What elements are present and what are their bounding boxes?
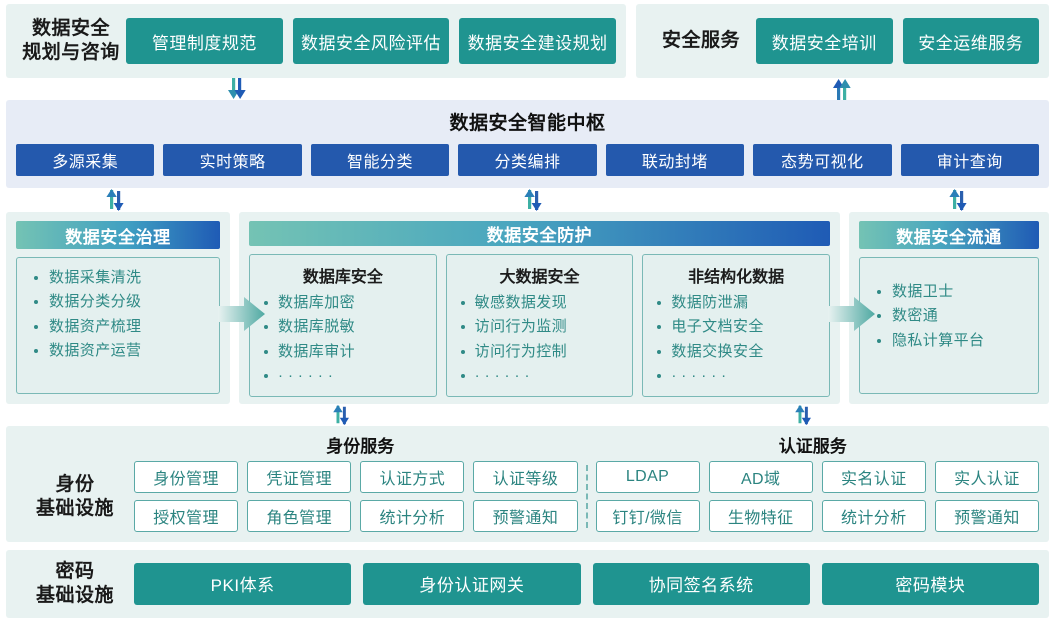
protection-0-item-2: 数据库审计	[256, 340, 430, 364]
diagram-root: 数据安全 规划与咨询 管理制度规范 数据安全风险评估 数据安全建设规划 安全服务…	[0, 0, 1055, 613]
protection-boxes: 数据库安全 数据库加密 数据库脱敏 数据库审计 · · · · · · 大数据安…	[249, 254, 830, 397]
governance-item-1: 数据分类分级	[23, 290, 213, 314]
crypto-item-1[interactable]: 身份认证网关	[363, 563, 580, 605]
auth-service-title: 认证服务	[587, 432, 1040, 457]
planning-label: 数据安全 规划与咨询	[16, 17, 126, 65]
arrow-bidi-circulation-icon	[941, 188, 977, 212]
crypto-items: PKI体系 身份认证网关 协同签名系统 密码模块	[134, 563, 1039, 605]
protection-1-item-3: · · · · · ·	[453, 364, 627, 388]
chevron-right-governance-icon	[216, 292, 268, 336]
arrow-band-top	[6, 78, 1049, 100]
crypto-item-3[interactable]: 密码模块	[822, 563, 1039, 605]
auth-cell-6[interactable]: 统计分析	[822, 500, 926, 532]
auth-cell-5[interactable]: 生物特征	[709, 500, 813, 532]
row-planning-services: 数据安全 规划与咨询 管理制度规范 数据安全风险评估 数据安全建设规划 安全服务…	[6, 4, 1049, 78]
protection-list-1: 敏感数据发现 访问行为监测 访问行为控制 · · · · · ·	[453, 291, 627, 388]
circulation-header: 数据安全流通	[859, 221, 1039, 249]
protection-box-title-1: 大数据安全	[453, 263, 627, 287]
planning-item-0[interactable]: 管理制度规范	[126, 18, 283, 64]
hub-item-5[interactable]: 态势可视化	[753, 144, 891, 176]
protection-box-title-2: 非结构化数据	[649, 263, 823, 287]
hub-panel: 数据安全智能中枢 多源采集 实时策略 智能分类 分类编排 联动封堵 态势可视化 …	[6, 100, 1049, 188]
protection-list-2: 数据防泄漏 电子文档安全 数据交换安全 · · · · · ·	[649, 291, 823, 388]
governance-panel: 数据安全治理 数据采集清洗 数据分类分级 数据资产梳理 数据资产运营	[6, 212, 230, 404]
identity-cell-1[interactable]: 凭证管理	[247, 461, 351, 493]
protection-header: 数据安全防护	[249, 221, 830, 246]
protection-box-2: 非结构化数据 数据防泄漏 电子文档安全 数据交换安全 · · · · · ·	[642, 254, 830, 397]
arrow-band-mid-ident	[6, 404, 1049, 426]
governance-list: 数据采集清洗 数据分类分级 数据资产梳理 数据资产运营	[23, 266, 213, 363]
planning-item-1[interactable]: 数据安全风险评估	[293, 18, 450, 64]
arrow-bidi-governance-icon	[98, 188, 134, 212]
identity-cell-7[interactable]: 预警通知	[473, 500, 577, 532]
protection-2-item-0: 数据防泄漏	[649, 291, 823, 315]
planning-item-2[interactable]: 数据安全建设规划	[459, 18, 616, 64]
circulation-item-2: 隐私计算平台	[866, 329, 1032, 353]
service-item-1[interactable]: 安全运维服务	[903, 18, 1040, 64]
chevron-right-protection-icon	[826, 292, 878, 336]
governance-header: 数据安全治理	[16, 221, 220, 249]
circulation-item-1: 数密通	[866, 304, 1032, 328]
identity-cell-2[interactable]: 认证方式	[360, 461, 464, 493]
governance-item-3: 数据资产运营	[23, 339, 213, 363]
hub-item-6[interactable]: 审计查询	[901, 144, 1039, 176]
identity-section-titles: 身份服务 认证服务	[16, 432, 1039, 457]
crypto-infrastructure-label: 密码 基础设施	[16, 560, 134, 608]
governance-item-0: 数据采集清洗	[23, 266, 213, 290]
auth-cell-7[interactable]: 预警通知	[935, 500, 1039, 532]
identity-service-title: 身份服务	[134, 432, 587, 457]
auth-cell-4[interactable]: 钉钉/微信	[596, 500, 700, 532]
identity-infrastructure-panel: 身份服务 认证服务 身份 基础设施 身份管理 凭证管理 认证方式 认证等级 授权…	[6, 426, 1049, 542]
governance-item-2: 数据资产梳理	[23, 315, 213, 339]
arrow-bidi-identity-icon	[324, 404, 360, 426]
hub-item-4[interactable]: 联动封堵	[606, 144, 744, 176]
service-item-0[interactable]: 数据安全培训	[756, 18, 893, 64]
hub-items: 多源采集 实时策略 智能分类 分类编排 联动封堵 态势可视化 审计查询	[16, 144, 1039, 176]
identity-divider	[578, 461, 596, 532]
protection-1-item-2: 访问行为控制	[453, 340, 627, 364]
arrow-up-services-icon	[824, 78, 862, 100]
governance-box: 数据采集清洗 数据分类分级 数据资产梳理 数据资产运营	[16, 257, 220, 394]
identity-service-grid: 身份管理 凭证管理 认证方式 认证等级 授权管理 角色管理 统计分析 预警通知	[134, 461, 578, 532]
auth-cell-1[interactable]: AD域	[709, 461, 813, 493]
planning-panel: 数据安全 规划与咨询 管理制度规范 数据安全风险评估 数据安全建设规划	[6, 4, 626, 78]
hub-title: 数据安全智能中枢	[16, 108, 1039, 135]
protection-box-0: 数据库安全 数据库加密 数据库脱敏 数据库审计 · · · · · ·	[249, 254, 437, 397]
circulation-list: 数据卫士 数密通 隐私计算平台	[866, 266, 1032, 353]
identity-infrastructure-label: 身份 基础设施	[16, 473, 134, 521]
identity-cell-6[interactable]: 统计分析	[360, 500, 464, 532]
identity-cell-4[interactable]: 授权管理	[134, 500, 238, 532]
protection-box-1: 大数据安全 敏感数据发现 访问行为监测 访问行为控制 · · · · · ·	[446, 254, 634, 397]
planning-items: 管理制度规范 数据安全风险评估 数据安全建设规划	[126, 18, 616, 64]
arrow-band-hub-mid	[6, 188, 1049, 212]
middle-row: 数据安全治理 数据采集清洗 数据分类分级 数据资产梳理 数据资产运营	[6, 212, 1049, 404]
arrow-bidi-auth-icon	[786, 404, 822, 426]
arrow-down-planning-icon	[219, 78, 257, 100]
security-services-label: 安全服务	[646, 29, 756, 53]
protection-2-item-1: 电子文档安全	[649, 315, 823, 339]
circulation-item-0: 数据卫士	[866, 280, 1032, 304]
crypto-infrastructure-panel: 密码 基础设施 PKI体系 身份认证网关 协同签名系统 密码模块	[6, 550, 1049, 618]
auth-cell-2[interactable]: 实名认证	[822, 461, 926, 493]
protection-2-item-2: 数据交换安全	[649, 340, 823, 364]
protection-panel: 数据安全防护 数据库安全 数据库加密 数据库脱敏 数据库审计 · · · · ·…	[239, 212, 840, 404]
identity-cell-0[interactable]: 身份管理	[134, 461, 238, 493]
auth-service-grid: LDAP AD域 实名认证 实人认证 钉钉/微信 生物特征 统计分析 预警通知	[596, 461, 1040, 532]
protection-1-item-0: 敏感数据发现	[453, 291, 627, 315]
protection-0-item-1: 数据库脱敏	[256, 315, 430, 339]
protection-0-item-0: 数据库加密	[256, 291, 430, 315]
protection-1-item-1: 访问行为监测	[453, 315, 627, 339]
hub-item-2[interactable]: 智能分类	[311, 144, 449, 176]
protection-0-item-3: · · · · · ·	[256, 364, 430, 388]
crypto-item-2[interactable]: 协同签名系统	[593, 563, 810, 605]
hub-item-3[interactable]: 分类编排	[458, 144, 596, 176]
security-services-items: 数据安全培训 安全运维服务	[756, 18, 1039, 64]
identity-cell-3[interactable]: 认证等级	[473, 461, 577, 493]
protection-box-title-0: 数据库安全	[256, 263, 430, 287]
crypto-item-0[interactable]: PKI体系	[134, 563, 351, 605]
auth-cell-0[interactable]: LDAP	[596, 461, 700, 493]
arrow-bidi-protection-icon	[516, 188, 552, 212]
identity-cell-5[interactable]: 角色管理	[247, 500, 351, 532]
protection-list-0: 数据库加密 数据库脱敏 数据库审计 · · · · · ·	[256, 291, 430, 388]
hub-item-1[interactable]: 实时策略	[163, 144, 301, 176]
circulation-box: 数据卫士 数密通 隐私计算平台	[859, 257, 1039, 394]
protection-2-item-3: · · · · · ·	[649, 364, 823, 388]
hub-item-0[interactable]: 多源采集	[16, 144, 154, 176]
circulation-panel: 数据安全流通 数据卫士 数密通 隐私计算平台	[849, 212, 1049, 404]
security-services-panel: 安全服务 数据安全培训 安全运维服务	[636, 4, 1049, 78]
auth-cell-3[interactable]: 实人认证	[935, 461, 1039, 493]
